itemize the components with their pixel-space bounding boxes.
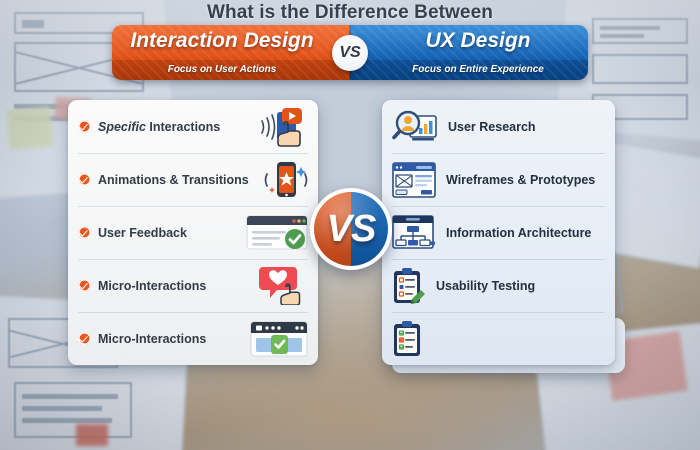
clipboard-checklist-icon [392,320,426,358]
list-item-label: Information Architecture [446,226,591,240]
banner-left-title: Interaction Design [112,29,350,53]
page-title: What is the Difference Between [0,2,700,24]
infographic-canvas: What is the Difference Between Interacti… [0,0,700,450]
banner-left-subtitle: Focus on User Actions [112,64,350,75]
interaction-design-card: Specific Interactions Animations & Trans… [68,100,318,365]
clipboard-checklist-pencil-icon [392,267,426,305]
list-item[interactable]: Usability Testing [382,259,615,312]
ux-design-card: User Research Wiref [382,100,615,365]
center-vs-medallion: VS [310,188,392,270]
list-item[interactable]: User Feedback [68,206,318,259]
sitemap-architecture-icon [392,215,436,251]
banner-right-title: UX Design [350,29,588,53]
list-item-label: User Research [448,120,536,134]
window-checkmark-icon [250,321,308,357]
list-item-label: Wireframes & Prototypes [446,173,595,187]
list-item[interactable]: Specific Interactions [68,100,318,153]
list-item[interactable]: Animations & Transitions [68,153,318,206]
magnifier-chart-icon [392,108,438,146]
browser-approved-icon [246,214,308,252]
list-item[interactable]: Information Architecture [382,206,615,259]
list-item-label: Specific Interactions [98,120,220,134]
list-item-label-emphasis: Specific [98,120,146,134]
phone-star-animation-icon [264,160,308,200]
orange-check-icon [78,226,91,239]
list-item-label: User Feedback [98,226,187,240]
list-item-label-rest: Interactions [146,120,220,134]
list-item-label: Micro-Interactions [98,332,206,346]
vs-medallion-inner: VS [314,192,388,266]
vs-medallion-label: VS [327,208,376,251]
wireframe-layout-icon [392,162,436,198]
orange-check-icon [78,279,91,292]
heart-like-tap-icon [256,267,308,305]
list-item[interactable]: Micro-Interactions [68,312,318,365]
banner-vs-badge: VS [332,35,368,71]
list-item-label: Micro-Interactions [98,279,206,293]
list-item[interactable]: Micro-Interactions [68,259,318,312]
list-item[interactable]: Wireframes & Prototypes [382,153,615,206]
list-item-label: Animations & Transitions [98,173,249,187]
banner-interaction-design: Interaction Design Focus on User Actions [112,25,350,80]
list-item-label: Usability Testing [436,279,535,293]
comparison-banner: Interaction Design Focus on User Actions… [112,25,588,80]
list-item[interactable] [382,312,615,365]
orange-check-icon [78,173,91,186]
orange-check-icon [78,332,91,345]
banner-ux-design: UX Design Focus on Entire Experience [350,25,588,80]
list-item[interactable]: User Research [382,100,615,153]
orange-check-icon [78,120,91,133]
banner-right-subtitle: Focus on Entire Experience [350,64,588,75]
play-button-tap-icon [260,107,308,147]
